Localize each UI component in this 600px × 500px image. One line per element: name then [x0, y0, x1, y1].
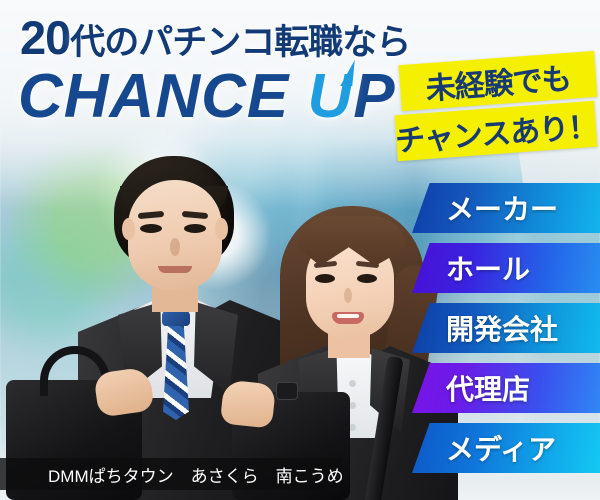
caption-text: DMMぱちタウン あさくら 南こうめ	[0, 462, 344, 487]
woman-blouse-button	[349, 402, 356, 409]
woman-blouse-button	[349, 424, 356, 431]
people-photo-group	[0, 140, 440, 500]
cta-label-media: メディア	[446, 428, 556, 468]
man-eye-left	[140, 224, 162, 233]
logo-chance-text: CHANCE	[18, 62, 289, 131]
cta-label-development-company: 開発会社	[446, 308, 558, 348]
cta-button-development-company[interactable]: 開発会社	[412, 303, 600, 353]
category-button-stack: メーカー ホール 開発会社 代理店 メディア	[412, 183, 600, 483]
cta-label-hall: ホール	[446, 248, 530, 288]
cta-button-agency[interactable]: 代理店	[412, 363, 600, 413]
man-eye-right	[184, 224, 206, 233]
woman-nose	[344, 288, 352, 303]
cta-label-maker: メーカー	[446, 188, 558, 228]
cta-button-hall[interactable]: ホール	[412, 243, 600, 293]
man-ear-left	[122, 218, 135, 240]
logo-up-u-letter: U	[307, 66, 353, 128]
logo-up-p-letter: P	[353, 62, 395, 131]
man-mouth	[158, 266, 192, 273]
woman-eye-left	[315, 274, 335, 283]
man-face	[128, 180, 222, 290]
caption-strip: DMMぱちタウン あさくら 南こうめ	[0, 458, 341, 490]
woman-blouse-button	[349, 380, 356, 387]
briefcase-right-latch	[276, 382, 298, 400]
man-nose	[170, 238, 180, 256]
cta-button-maker[interactable]: メーカー	[412, 183, 600, 233]
cta-label-agency: 代理店	[446, 368, 530, 408]
man-ear-right	[215, 218, 228, 240]
headline-number: 20	[20, 11, 70, 64]
woman-eye-right	[357, 274, 377, 283]
woman-mouth	[332, 312, 364, 324]
woman-hand	[220, 379, 276, 428]
cta-button-media[interactable]: メディア	[412, 423, 600, 473]
headline-suffix: なら	[342, 23, 410, 62]
headline-text: 20代のパチンコ転職なら	[20, 14, 410, 61]
chance-up-logo: CHANCE UP	[18, 66, 396, 128]
recruitment-banner: 20代のパチンコ転職なら CHANCE UP 未経験でも チャンスあり！ メーカ…	[0, 0, 600, 500]
headline-middle: 代のパチンコ転職	[70, 23, 342, 62]
